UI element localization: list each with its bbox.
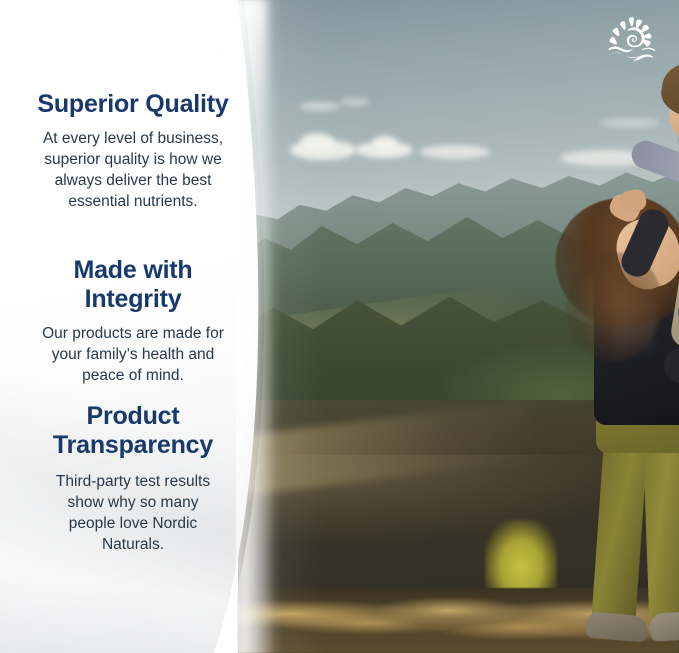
shoe [585, 611, 649, 642]
value-block-product-transparency: Product Transparency Third-party test re… [0, 402, 266, 555]
value-body: Third-party test results show why so man… [0, 471, 266, 555]
value-heading: Made with Integrity [0, 256, 266, 314]
value-heading: Superior Quality [0, 90, 266, 119]
value-block-superior-quality: Superior Quality At every level of busin… [0, 90, 266, 212]
child-arm [628, 137, 679, 191]
mother-leg [642, 423, 679, 629]
value-block-made-with-integrity: Made with Integrity Our products are mad… [0, 256, 266, 386]
sun-over-waves-logo-icon [606, 16, 658, 64]
family-group [238, 0, 679, 653]
promo-banner: Superior Quality At every level of busin… [0, 0, 679, 653]
value-body: Our products are made for your family’s … [0, 323, 266, 386]
value-body: At every level of business, superior qua… [0, 128, 266, 212]
panel-content: Superior Quality At every level of busin… [0, 0, 266, 653]
value-heading: Product Transparency [0, 402, 266, 460]
